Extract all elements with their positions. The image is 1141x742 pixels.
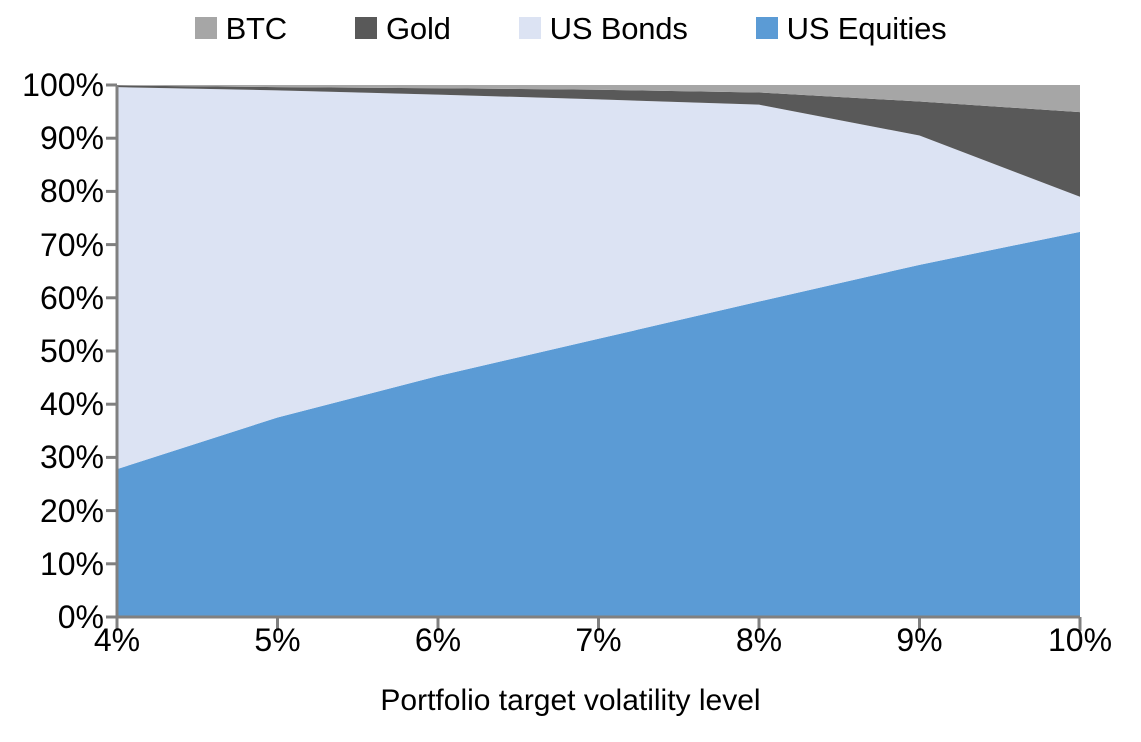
x-tick-label: 5% <box>218 624 338 656</box>
x-tick-label: 6% <box>378 624 498 656</box>
x-tick-label: 9% <box>860 624 980 656</box>
x-axis-tick-labels: 4%5%6%7%8%9%10% <box>0 0 1141 742</box>
x-tick-label: 8% <box>699 624 819 656</box>
x-tick-label: 10% <box>1020 624 1140 656</box>
stacked-area-chart: BTC Gold US Bonds US Equities 0%10%20%30… <box>0 0 1141 742</box>
x-axis-title: Portfolio target volatility level <box>0 686 1141 716</box>
x-tick-label: 4% <box>57 624 177 656</box>
x-tick-label: 7% <box>539 624 659 656</box>
